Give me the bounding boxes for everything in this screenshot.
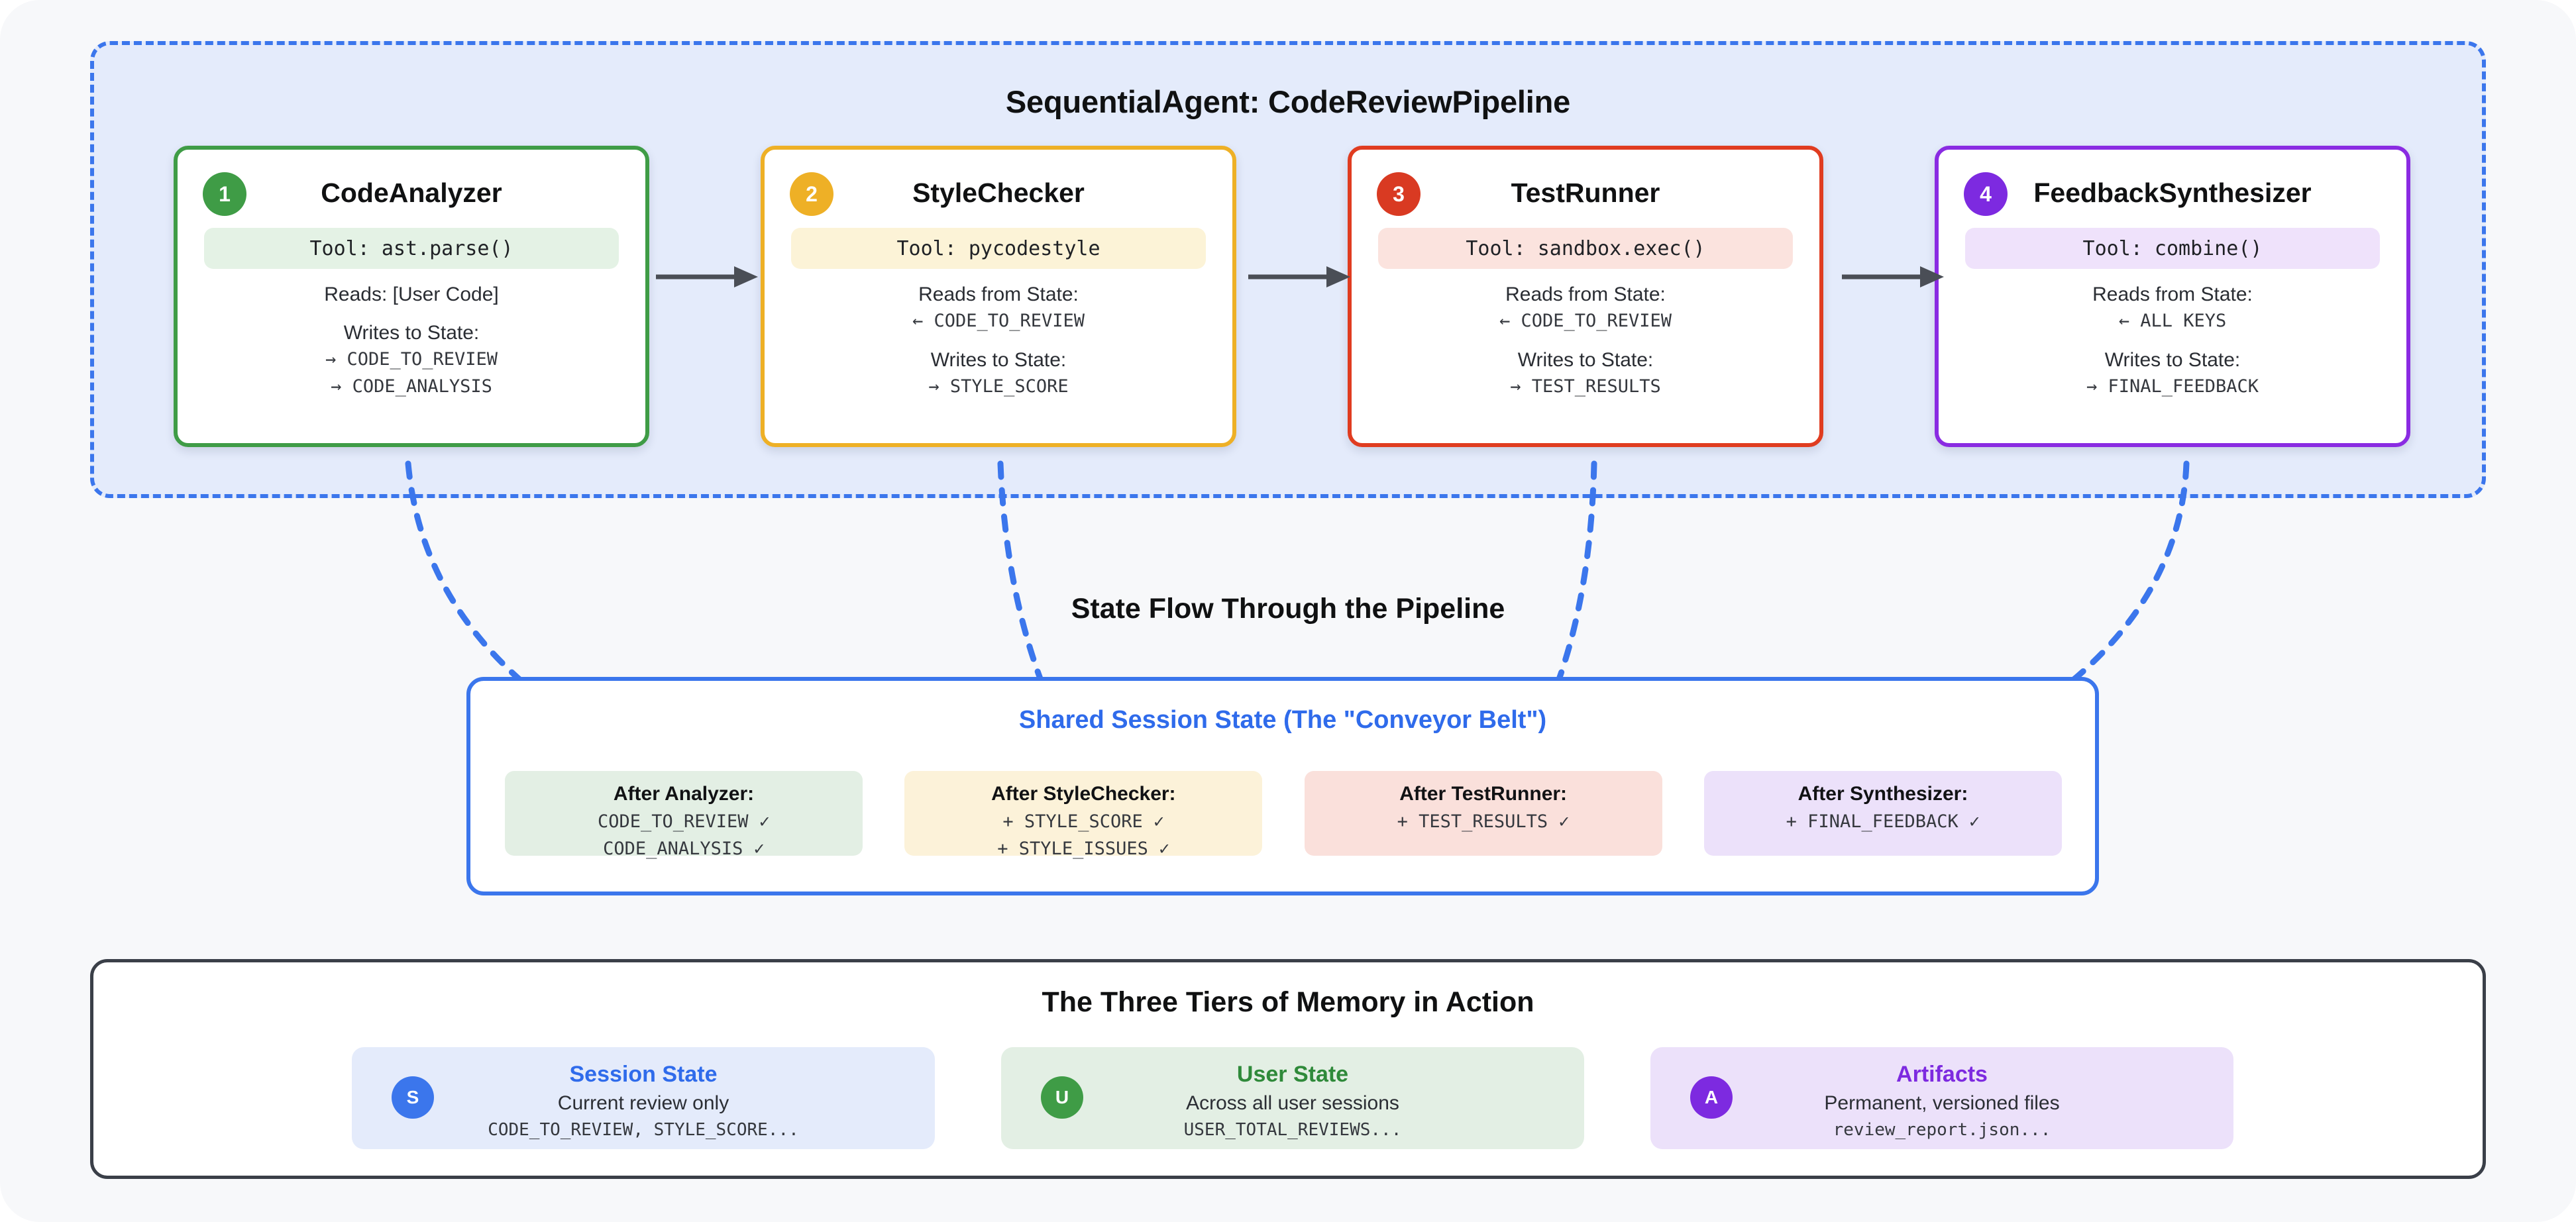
shared-session-state-title: Shared Session State (The "Conveyor Belt…	[470, 706, 2095, 735]
shared-session-state-box: Shared Session State (The "Conveyor Belt…	[466, 677, 2099, 895]
state-snapshot-after-synthesizer[interactable]: After Synthesizer: + FINAL_FEEDBACK ✓	[1704, 771, 2062, 856]
memory-tier-keys: USER_TOTAL_REVIEWS...	[1001, 1120, 1584, 1140]
state-snapshot-title: After Synthesizer:	[1704, 783, 2062, 805]
agent-tool-chip: Tool: ast.parse()	[204, 228, 619, 269]
flow-arrow-1-to-2	[656, 264, 758, 290]
state-snapshot-key: CODE_ANALYSIS ✓	[505, 839, 863, 860]
agent-writes-key: → TEST_RESULTS	[1352, 376, 1819, 399]
agent-reads-label: Reads from State:	[765, 283, 1232, 306]
agent-writes-key: → CODE_TO_REVIEW	[178, 348, 645, 372]
agent-reads-key: ← ALL KEYS	[1939, 310, 2406, 333]
memory-tier-subtitle: Across all user sessions	[1001, 1092, 1584, 1115]
pipeline-title: SequentialAgent: CodeReviewPipeline	[94, 83, 2482, 120]
memory-tier-cards: S Session State Current review only CODE…	[352, 1047, 2233, 1149]
memory-tier-user-state[interactable]: U User State Across all user sessions US…	[1001, 1047, 1584, 1149]
memory-tier-keys: review_report.json...	[1650, 1120, 2233, 1140]
agent-card-header: 4 FeedbackSynthesizer	[1939, 150, 2406, 228]
memory-tier-subtitle: Current review only	[352, 1092, 935, 1115]
agent-writes-label: Writes to State:	[178, 322, 645, 344]
agent-reads-label: Reads from State:	[1939, 283, 2406, 306]
agent-writes-key: → FINAL_FEEDBACK	[1939, 376, 2406, 399]
agent-card-testrunner[interactable]: 3 TestRunner Tool: sandbox.exec() Reads …	[1348, 146, 1823, 447]
memory-tier-subtitle: Permanent, versioned files	[1650, 1092, 2233, 1115]
memory-tiers-section: The Three Tiers of Memory in Action S Se…	[90, 959, 2486, 1179]
diagram-page: SequentialAgent: CodeReviewPipeline 1 Co…	[0, 0, 2576, 1222]
flow-arrow-3-to-4	[1842, 264, 1944, 290]
state-snapshot-key: + STYLE_SCORE ✓	[904, 811, 1262, 833]
flow-arrow-2-to-3	[1248, 264, 1350, 290]
agent-name: FeedbackSynthesizer	[1939, 178, 2406, 209]
agent-cards-row: 1 CodeAnalyzer Tool: ast.parse() Reads: …	[174, 146, 2410, 450]
agent-card-stylechecker[interactable]: 2 StyleChecker Tool: pycodestyle Reads f…	[761, 146, 1236, 447]
agent-writes-key: → STYLE_SCORE	[765, 376, 1232, 399]
agent-reads-label: Reads from State:	[1352, 283, 1819, 306]
agent-writes-label: Writes to State:	[1939, 349, 2406, 372]
state-snapshot-key: + FINAL_FEEDBACK ✓	[1704, 811, 2062, 833]
state-snapshot-after-testrunner[interactable]: After TestRunner: + TEST_RESULTS ✓	[1305, 771, 1662, 856]
memory-tiers-heading: The Three Tiers of Memory in Action	[93, 986, 2483, 1019]
shared-session-state-items: After Analyzer: CODE_TO_REVIEW ✓ CODE_AN…	[505, 771, 2062, 856]
agent-writes-label: Writes to State:	[1352, 349, 1819, 372]
agent-card-header: 1 CodeAnalyzer	[178, 150, 645, 228]
agent-name: CodeAnalyzer	[178, 178, 645, 209]
state-snapshot-key: + TEST_RESULTS ✓	[1305, 811, 1662, 833]
agent-card-header: 2 StyleChecker	[765, 150, 1232, 228]
state-snapshot-title: After Analyzer:	[505, 783, 863, 805]
state-snapshot-key: CODE_TO_REVIEW ✓	[505, 811, 863, 833]
agent-tool-chip: Tool: pycodestyle	[791, 228, 1206, 269]
state-snapshot-title: After TestRunner:	[1305, 783, 1662, 805]
agent-writes-key: → CODE_ANALYSIS	[178, 376, 645, 399]
agent-name: TestRunner	[1352, 178, 1819, 209]
memory-tier-title: Artifacts	[1650, 1062, 2233, 1088]
memory-tier-artifacts[interactable]: A Artifacts Permanent, versioned files r…	[1650, 1047, 2233, 1149]
agent-reads-key: ← CODE_TO_REVIEW	[1352, 310, 1819, 333]
agent-reads-label: Reads: [User Code]	[178, 283, 645, 306]
memory-tier-keys: CODE_TO_REVIEW, STYLE_SCORE...	[352, 1120, 935, 1140]
agent-tool-chip: Tool: sandbox.exec()	[1378, 228, 1793, 269]
agent-tool-chip: Tool: combine()	[1965, 228, 2380, 269]
agent-name: StyleChecker	[765, 178, 1232, 209]
agent-card-codeanalyzer[interactable]: 1 CodeAnalyzer Tool: ast.parse() Reads: …	[174, 146, 649, 447]
state-snapshot-key: + STYLE_ISSUES ✓	[904, 839, 1262, 860]
sequential-agent-container: SequentialAgent: CodeReviewPipeline 1 Co…	[90, 41, 2486, 498]
agent-card-header: 3 TestRunner	[1352, 150, 1819, 228]
memory-tier-title: User State	[1001, 1062, 1584, 1088]
state-snapshot-after-analyzer[interactable]: After Analyzer: CODE_TO_REVIEW ✓ CODE_AN…	[505, 771, 863, 856]
memory-tier-session-state[interactable]: S Session State Current review only CODE…	[352, 1047, 935, 1149]
state-snapshot-after-stylechecker[interactable]: After StyleChecker: + STYLE_SCORE ✓ + ST…	[904, 771, 1262, 856]
agent-reads-key: ← CODE_TO_REVIEW	[765, 310, 1232, 333]
memory-tier-title: Session State	[352, 1062, 935, 1088]
agent-card-feedbacksynthesizer[interactable]: 4 FeedbackSynthesizer Tool: combine() Re…	[1935, 146, 2410, 447]
agent-writes-label: Writes to State:	[765, 349, 1232, 372]
state-flow-heading: State Flow Through the Pipeline	[0, 593, 2576, 625]
state-snapshot-title: After StyleChecker:	[904, 783, 1262, 805]
